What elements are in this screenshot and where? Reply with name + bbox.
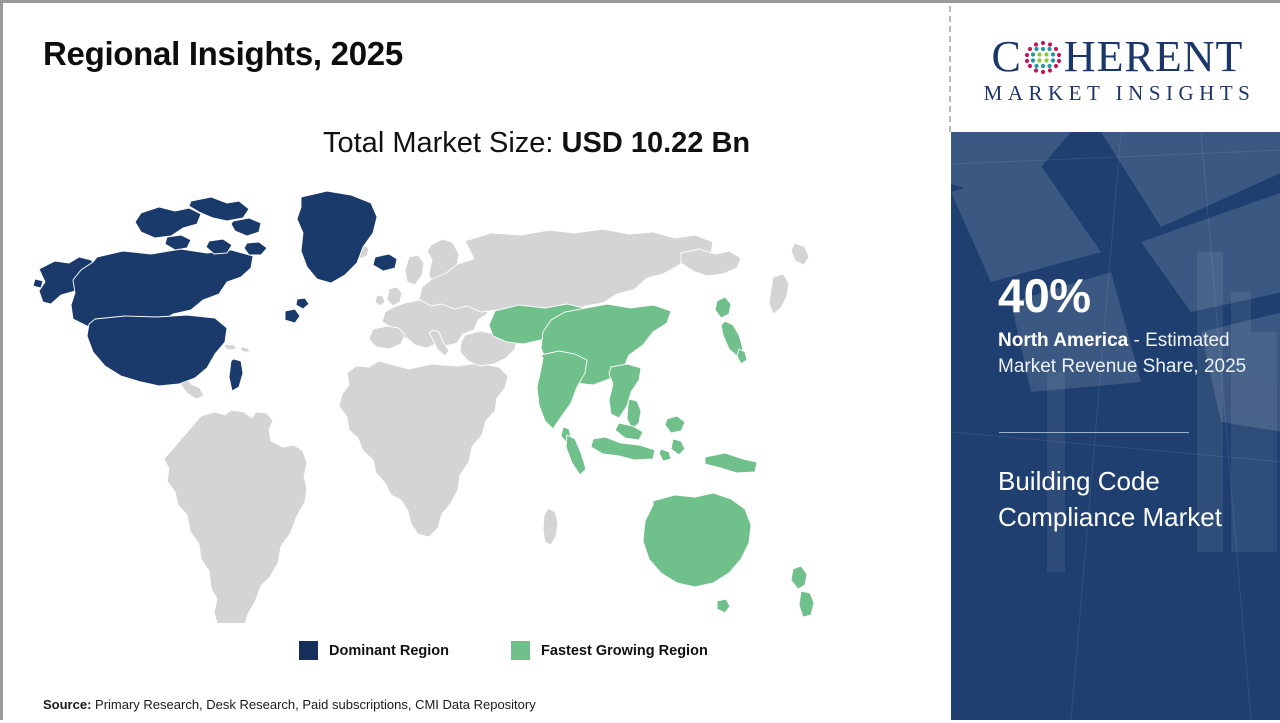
total-market-size-value: USD 10.22 Bn [562, 127, 751, 159]
map-region-north-america [33, 191, 397, 391]
logo-letters-herent: HERENT [1064, 35, 1244, 79]
panel-divider [999, 432, 1189, 433]
vertical-dashed-divider [949, 6, 951, 132]
source-note: Source: Primary Research, Desk Research,… [43, 697, 536, 712]
company-logo: C [955, 6, 1280, 132]
dotted-globe-icon [1023, 37, 1063, 77]
infographic-frame: Regional Insights, 2025 Total Market Siz… [0, 0, 1280, 720]
share-description: North America - Estimated Market Revenue… [998, 328, 1266, 380]
share-percent: 40% [998, 272, 1091, 319]
highlight-panel: 40% North America - Estimated Market Rev… [951, 132, 1280, 720]
square-swatch-icon [299, 641, 318, 660]
legend-label-dominant: Dominant Region [329, 643, 449, 659]
source-text: Primary Research, Desk Research, Paid su… [91, 697, 535, 712]
total-market-size-label: Total Market Size: [323, 127, 562, 159]
panel-content: 40% North America - Estimated Market Rev… [951, 132, 1280, 720]
left-content-pane: Regional Insights, 2025 Total Market Siz… [3, 3, 951, 723]
map-region-asia-pacific [489, 297, 814, 617]
logo-wordmark: C [992, 35, 1244, 79]
logo-tagline: MARKET INSIGHTS [980, 83, 1256, 104]
logo-letter-c: C [992, 35, 1022, 79]
page-title: Regional Insights, 2025 [43, 35, 403, 73]
legend-item-fastest-growing: Fastest Growing Region [511, 641, 708, 660]
legend-label-fastest-growing: Fastest Growing Region [541, 643, 708, 659]
share-region: North America [998, 330, 1128, 351]
square-swatch-icon [511, 641, 530, 660]
market-name: Building Code Compliance Market [998, 464, 1248, 535]
total-market-size: Total Market Size: USD 10.22 Bn [323, 127, 750, 160]
source-label: Source: [43, 697, 91, 712]
map-legend: Dominant Region Fastest Growing Region [299, 641, 708, 660]
world-map [33, 183, 853, 623]
legend-item-dominant: Dominant Region [299, 641, 449, 660]
